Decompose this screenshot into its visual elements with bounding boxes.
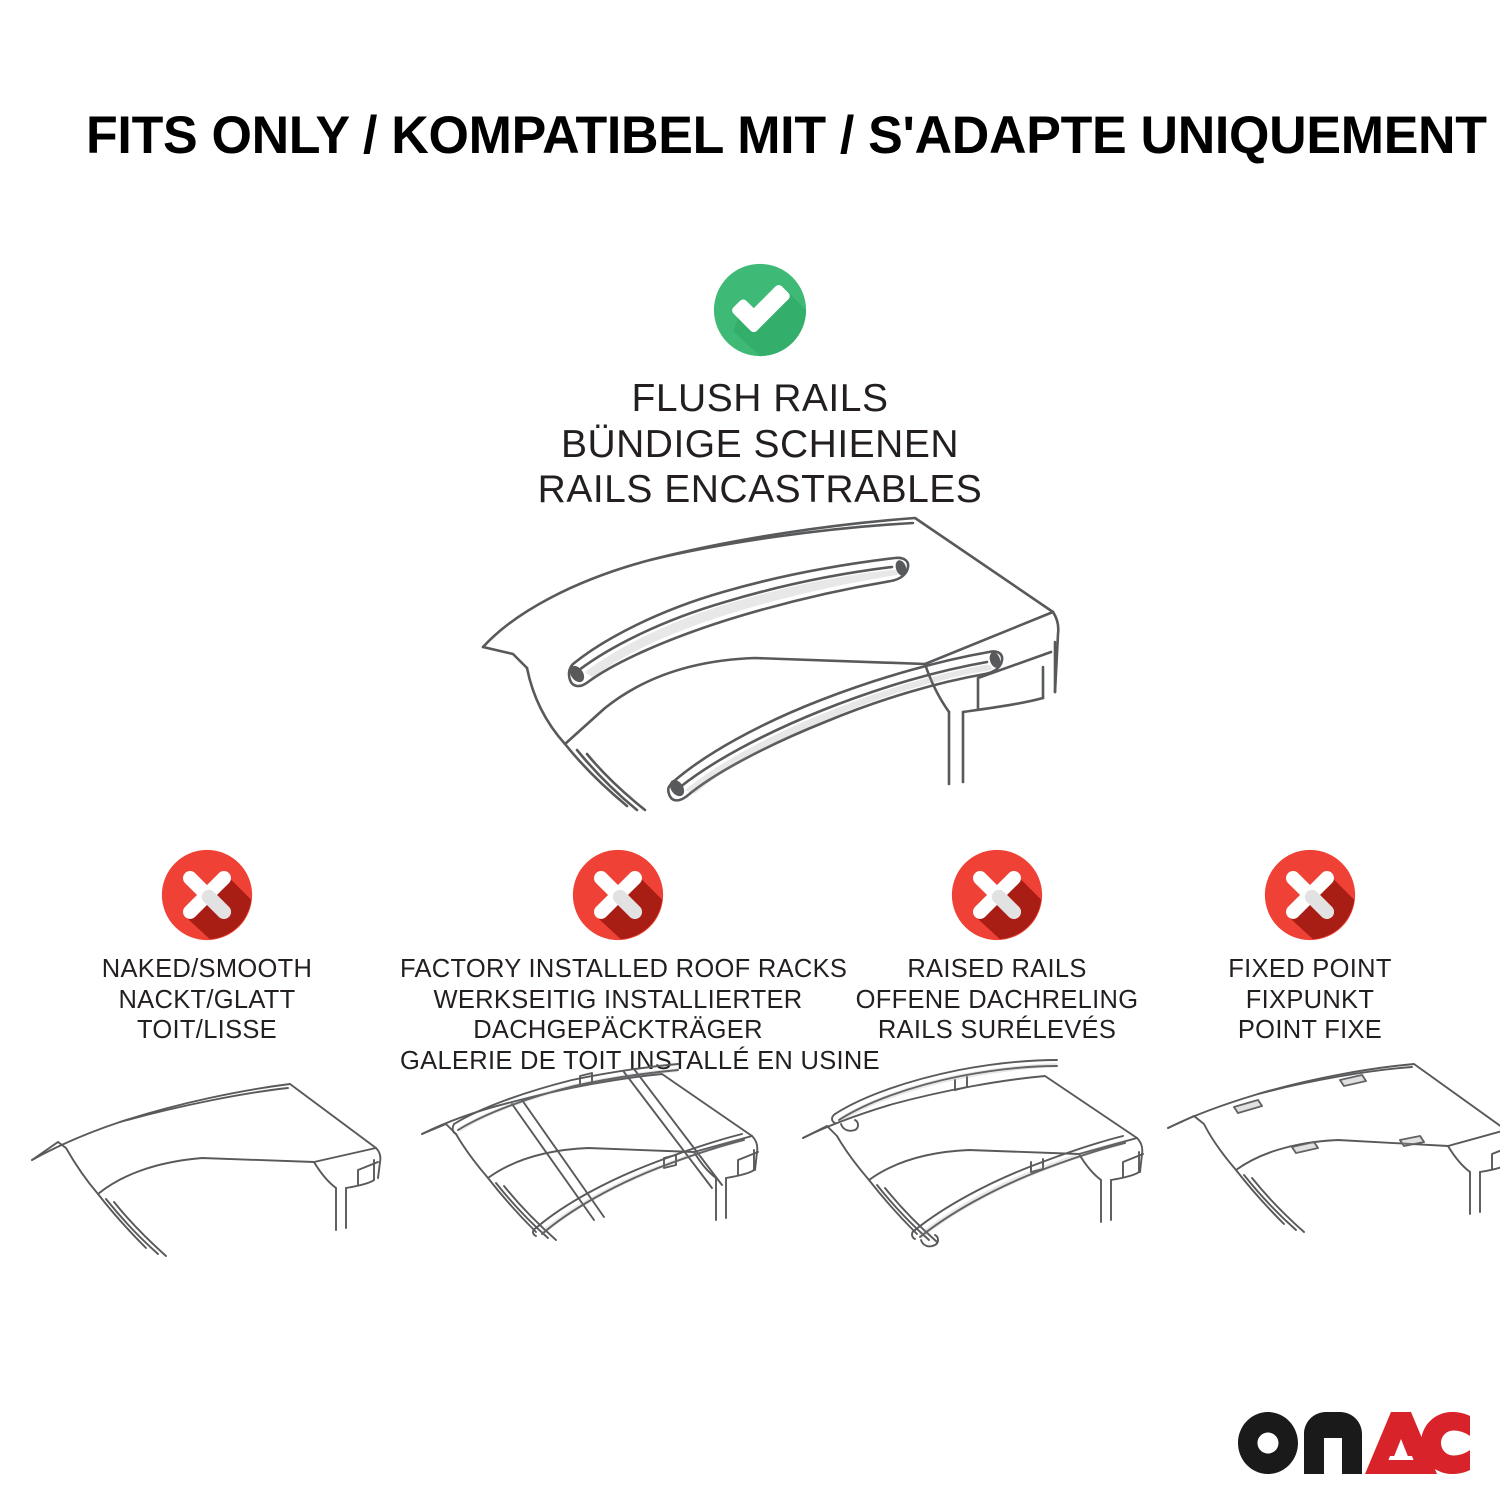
- red-x-icon: [1263, 848, 1357, 942]
- green-check-icon: [712, 262, 808, 358]
- infographic-page: FITS ONLY / KOMPATIBEL MIT / S'ADAPTE UN…: [0, 0, 1500, 1500]
- car-roof-factory-roof-racks-illustration: [412, 1062, 768, 1282]
- label-line-en: RAISED RAILS: [832, 954, 1162, 985]
- label-line-de: FIXPUNKT: [1165, 985, 1455, 1016]
- label-line-fr: POINT FIXE: [1165, 1015, 1455, 1046]
- incompatible-column-raised-rails: RAISED RAILS OFFENE DACHRELING RAILS SUR…: [832, 848, 1162, 1046]
- incompatible-column-fixed-point: FIXED POINT FIXPUNKT POINT FIXE: [1165, 848, 1455, 1046]
- compatible-label-line-en: FLUSH RAILS: [380, 376, 1140, 422]
- incompatible-label: RAISED RAILS OFFENE DACHRELING RAILS SUR…: [832, 954, 1162, 1046]
- red-x-icon: [160, 848, 254, 942]
- label-line-de-1: WERKSEITIG INSTALLIERTER: [400, 985, 836, 1016]
- label-line-en: FIXED POINT: [1165, 954, 1455, 985]
- red-x-icon: [571, 848, 665, 942]
- omac-logo: [1238, 1412, 1470, 1474]
- incompatible-label: FIXED POINT FIXPUNKT POINT FIXE: [1165, 954, 1455, 1046]
- label-line-de-2: DACHGEPÄCKTRÄGER: [400, 1015, 836, 1046]
- label-line-en: NAKED/SMOOTH: [37, 954, 377, 985]
- red-x-icon: [950, 848, 1044, 942]
- incompatible-column-factory-roof-racks: FACTORY INSTALLED ROOF RACKS WERKSEITIG …: [400, 848, 836, 1076]
- label-line-fr: RAILS SURÉLEVÉS: [832, 1015, 1162, 1046]
- label-line-de: OFFENE DACHRELING: [832, 985, 1162, 1016]
- car-roof-flush-rails-illustration: [455, 492, 1065, 812]
- label-line-fr: TOIT/LISSE: [37, 1015, 377, 1046]
- compatible-section: FLUSH RAILS BÜNDIGE SCHIENEN RAILS ENCAS…: [380, 262, 1140, 513]
- page-title: FITS ONLY / KOMPATIBEL MIT / S'ADAPTE UN…: [86, 108, 1399, 164]
- incompatible-label: NAKED/SMOOTH NACKT/GLATT TOIT/LISSE: [37, 954, 377, 1046]
- incompatible-column-naked-smooth: NAKED/SMOOTH NACKT/GLATT TOIT/LISSE: [37, 848, 377, 1046]
- car-roof-raised-rails-illustration: [795, 1062, 1151, 1282]
- incompatible-label: FACTORY INSTALLED ROOF RACKS WERKSEITIG …: [400, 954, 836, 1076]
- car-roof-naked-smooth-illustration: [28, 1062, 384, 1282]
- label-line-de: NACKT/GLATT: [37, 985, 377, 1016]
- label-line-en: FACTORY INSTALLED ROOF RACKS: [400, 954, 836, 985]
- compatible-label-line-de: BÜNDIGE SCHIENEN: [380, 422, 1140, 468]
- car-roof-fixed-point-illustration: [1162, 1062, 1500, 1282]
